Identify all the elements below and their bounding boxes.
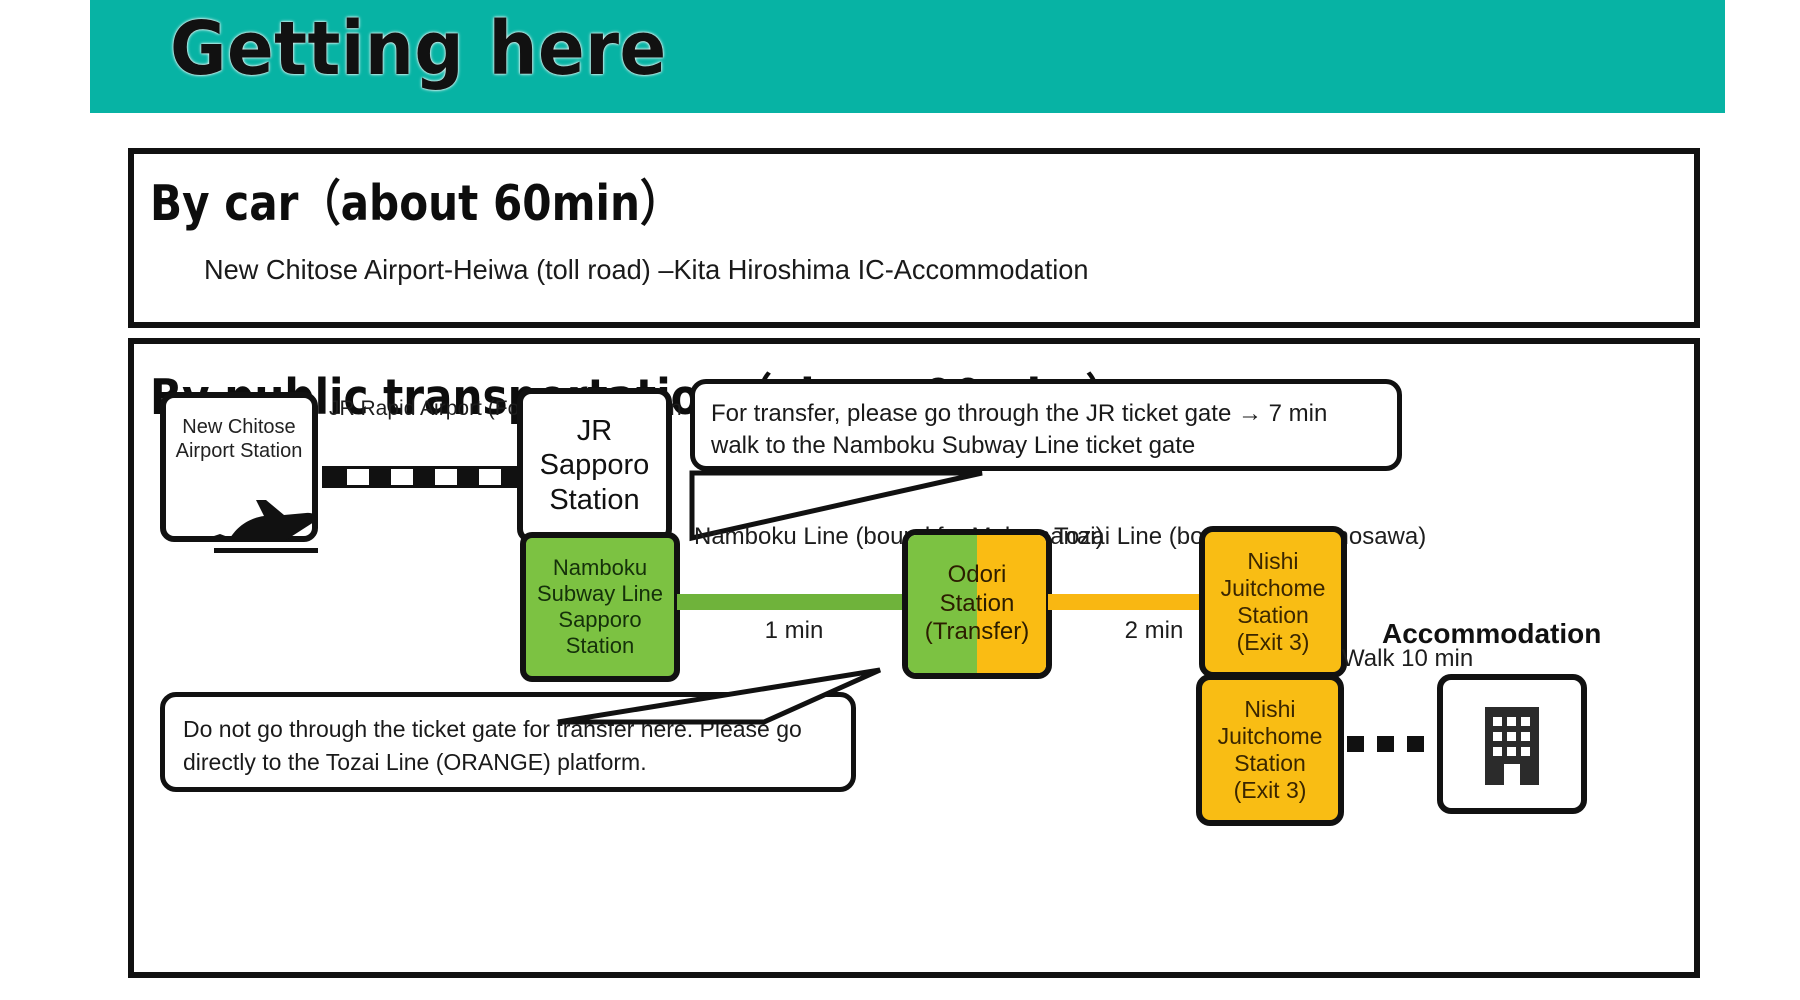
segment-walk-label: Walk 10 min — [1342, 644, 1452, 674]
station-label: Namboku Subway Line Sapporo Station — [537, 555, 663, 659]
segment-walk-line2: 10 min — [1401, 645, 1473, 672]
segment-tozai-duration: 2 min — [1094, 616, 1214, 646]
callout-line2: the Namboku Subway Line ticket gate — [792, 432, 1195, 459]
station-nishi-juitchome-bottom[interactable]: Nishi Juitchome Station (Exit 3) — [1196, 674, 1344, 826]
station-label-line4: Station — [537, 633, 663, 659]
station-label-line1: Namboku — [537, 555, 663, 581]
namboku-line-connector — [677, 594, 906, 610]
station-label-line3: Sapporo — [537, 607, 663, 633]
station-namboku-sapporo[interactable]: Namboku Subway Line Sapporo Station — [520, 532, 680, 682]
station-label-line3: Station — [1218, 750, 1323, 777]
callout-text: For transfer, please go through the JR t… — [695, 384, 1397, 463]
by-car-route: New Chitose Airport-Heiwa (toll road) –K… — [204, 254, 1089, 286]
station-label-line1: Nishi — [1218, 696, 1323, 723]
segment-walk-line1: Walk — [1342, 645, 1394, 672]
page-root: Getting here By car（about 60min） New Chi… — [0, 0, 1800, 1000]
station-label: Odori Station (Transfer) — [925, 561, 1029, 647]
station-label-line1: New Chitose — [176, 416, 303, 440]
station-label: Nishi Juitchome Station (Exit 3) — [1221, 548, 1326, 657]
airplane-icon — [206, 496, 326, 562]
segment-namboku-line1: Namboku Line — [694, 523, 849, 550]
station-label-line4: (Exit 3) — [1221, 629, 1326, 656]
station-label-line3: Station — [1221, 602, 1326, 629]
segment-namboku-label: Namboku Line (bound for Makomanai) — [694, 522, 894, 552]
callout-no-ticket-gate-pointer — [554, 666, 884, 726]
station-nishi-juitchome-top[interactable]: Nishi Juitchome Station (Exit 3) — [1199, 526, 1347, 678]
walk-dotted-connector — [1347, 736, 1439, 752]
segment-tozai-line1: Tozai Line — [1054, 523, 1162, 550]
station-label: Nishi Juitchome Station (Exit 3) — [1218, 696, 1323, 805]
station-label-line3: (Transfer) — [925, 618, 1029, 647]
station-new-chitose-airport[interactable]: New Chitose Airport Station — [160, 392, 318, 542]
by-car-panel: By car（about 60min） New Chitose Airport-… — [128, 148, 1700, 328]
station-label-line2: Subway Line — [537, 581, 663, 607]
tozai-line-connector — [1048, 594, 1203, 610]
railway-connector — [322, 466, 518, 488]
station-label-line2: Juitchome — [1218, 723, 1323, 750]
station-label-line2: Juitchome — [1221, 575, 1326, 602]
callout-jr-transfer: For transfer, please go through the JR t… — [690, 379, 1402, 471]
by-car-title: By car（about 60min） — [150, 164, 682, 235]
station-label-line2: Airport Station — [176, 440, 303, 464]
station-label-line4: (Exit 3) — [1218, 777, 1323, 804]
station-label-line2: Station — [925, 590, 1029, 619]
station-label-line1: Nishi — [1221, 548, 1326, 575]
station-odori-transfer[interactable]: Odori Station (Transfer) — [902, 529, 1052, 679]
building-icon — [1475, 701, 1549, 787]
station-label: New Chitose Airport Station — [176, 402, 303, 463]
segment-jr-rapid-line1: JR Rapid Airport — [329, 397, 482, 420]
callout-line2: Tozai Line (ORANGE) platform. — [326, 749, 647, 775]
segment-jr-rapid-label: JR Rapid Airport (For Sapporo) 40min — [329, 396, 519, 422]
station-label-line1: Odori — [925, 561, 1029, 590]
page-title: Getting here — [170, 6, 667, 92]
station-label-line1: JR — [540, 414, 650, 448]
segment-namboku-duration: 1 min — [734, 616, 854, 646]
by-public-transportation-panel: By public transportation（about 90min ） N… — [128, 338, 1700, 978]
accommodation-building[interactable] — [1437, 674, 1587, 814]
